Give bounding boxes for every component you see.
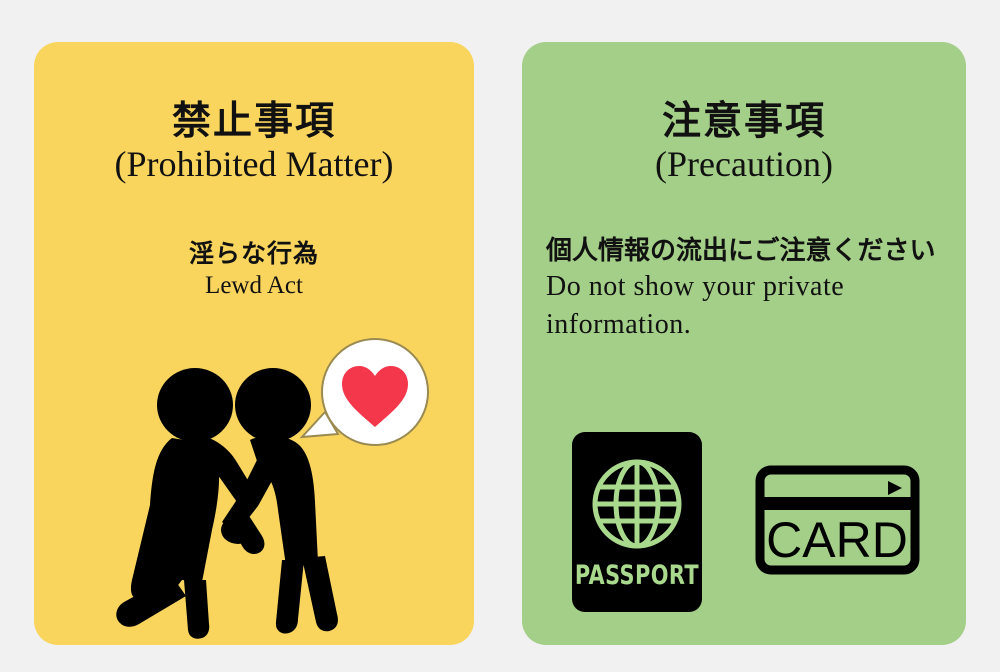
precaution-heading: 注意事項 (Precaution) [522,100,966,187]
prohibited-subtitle: 淫らな行為 Lewd Act [34,238,474,303]
prohibited-heading: 禁止事項 (Prohibited Matter) [34,100,474,187]
document-icons-group: PASSPORT CARD [572,382,966,592]
credit-card-icon: CARD [755,465,920,580]
poster-canvas: 禁止事項 (Prohibited Matter) 淫らな行為 Lewd Act [0,0,1000,672]
precaution-body-en-line2: information. [546,306,950,344]
card-precaution: 注意事項 (Precaution) 個人情報の流出にご注意ください Do not… [522,42,966,645]
precaution-title-en: (Precaution) [522,142,966,187]
precaution-title-jp: 注意事項 [522,100,966,142]
passport-label: PASSPORT [575,559,699,590]
precaution-body-en-line1: Do not show your private [546,268,950,306]
precaution-body-jp: 個人情報の流出にご注意ください [546,236,950,268]
prohibited-subtitle-en: Lewd Act [34,269,474,303]
couple-holding-hands-pictogram [110,330,440,640]
prohibited-title-jp: 禁止事項 [34,100,474,142]
prohibited-subtitle-jp: 淫らな行為 [34,238,474,269]
passport-icon: PASSPORT [572,432,702,617]
credit-card-label: CARD [766,512,908,568]
prohibited-title-en: (Prohibited Matter) [34,142,474,187]
precaution-body: 個人情報の流出にご注意ください Do not show your private… [546,236,950,344]
card-prohibited-matter: 禁止事項 (Prohibited Matter) 淫らな行為 Lewd Act [34,42,474,645]
